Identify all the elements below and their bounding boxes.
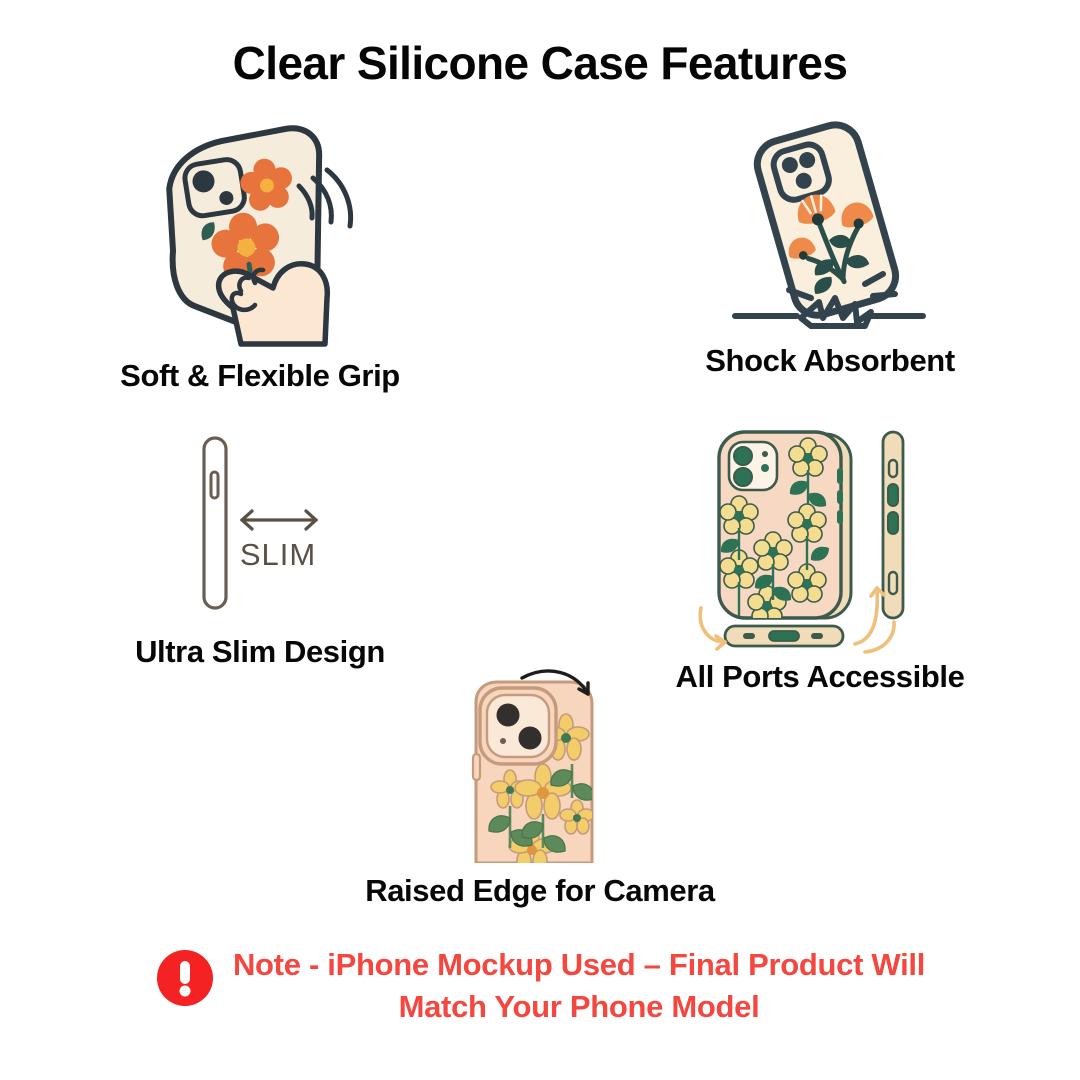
- note-banner: Note - iPhone Mockup Used – Final Produc…: [0, 944, 1080, 1027]
- phone-ports-cutouts-icon: [580, 420, 1060, 655]
- svg-text:SLIM: SLIM: [240, 537, 316, 572]
- feature-caption: Soft & Flexible Grip: [20, 358, 500, 394]
- infographic-page: Clear Silicone Case Features: [0, 0, 1080, 1080]
- feature-all-ports-accessible: All Ports Accessible: [580, 420, 1060, 695]
- feature-raised-edge-for-camera: Raised Edge for Camera: [290, 668, 790, 909]
- note-text: Note - iPhone Mockup Used – Final Produc…: [233, 944, 925, 1027]
- exclamation-circle-icon: [155, 948, 215, 1013]
- feature-caption: Ultra Slim Design: [20, 634, 500, 670]
- feature-ultra-slim-design: SLIM Ultra Slim Design: [20, 428, 500, 670]
- feature-soft-flexible-grip: Soft & Flexible Grip: [20, 118, 500, 394]
- hand-holding-flexing-phone-case-icon: [20, 118, 500, 348]
- feature-shock-absorbent: Shock Absorbent: [590, 112, 1070, 379]
- feature-caption: Raised Edge for Camera: [290, 873, 790, 909]
- note-line-1: Note - iPhone Mockup Used – Final Produc…: [233, 944, 925, 986]
- phone-case-impact-burst-icon: [590, 112, 1070, 337]
- page-title: Clear Silicone Case Features: [0, 36, 1080, 90]
- note-line-2: Match Your Phone Model: [233, 986, 925, 1028]
- feature-caption: Shock Absorbent: [590, 343, 1070, 379]
- phone-side-profile-slim-icon: SLIM: [20, 428, 500, 618]
- phone-raised-camera-edge-icon: [290, 668, 790, 863]
